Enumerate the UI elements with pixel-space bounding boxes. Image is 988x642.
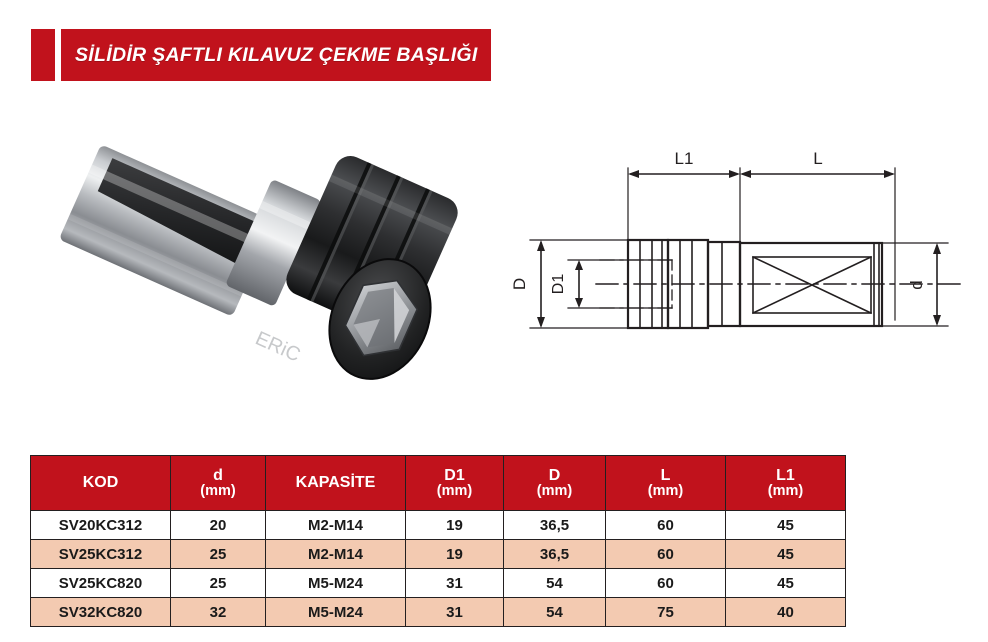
cell-l1: 40	[726, 598, 846, 627]
table-header-row: KOD d (mm) KAPASİTE D1 (mm) D (mm) L (mm…	[31, 456, 846, 511]
cell-d1: 19	[406, 511, 504, 540]
title-accent-block	[31, 29, 55, 81]
page-title-banner: SİLİDİR ŞAFTLI KILAVUZ ÇEKME BAŞLIĞI	[31, 29, 491, 81]
cell-l1: 45	[726, 540, 846, 569]
technical-drawing: L1 L D D1 d	[500, 130, 970, 380]
column-header-d: d (mm)	[171, 456, 266, 511]
dim-label-D1: D1	[550, 274, 567, 295]
table-row[interactable]: SV25KC820 25 M5-M24 31 54 60 45	[31, 569, 846, 598]
cell-l: 75	[606, 598, 726, 627]
product-photo: ERiC	[48, 105, 458, 400]
column-header-kapasite-label: KAPASİTE	[266, 474, 405, 491]
cell-d1: 19	[406, 540, 504, 569]
column-header-l1: L1 (mm)	[726, 456, 846, 511]
column-header-l-label: L	[606, 467, 725, 484]
photo-watermark: ERiC	[252, 327, 304, 366]
dim-label-D: D	[510, 278, 529, 290]
dim-label-L1: L1	[675, 149, 694, 168]
cell-l: 60	[606, 511, 726, 540]
cell-kod: SV32KC820	[31, 598, 171, 627]
dim-label-d: d	[907, 280, 926, 289]
cell-kapasite: M5-M24	[266, 598, 406, 627]
cell-d: 32	[171, 598, 266, 627]
cell-kapasite: M5-M24	[266, 569, 406, 598]
cell-kod: SV25KC312	[31, 540, 171, 569]
cell-dd: 36,5	[504, 511, 606, 540]
column-header-l-unit: (mm)	[606, 484, 725, 500]
column-header-kod-label: KOD	[31, 474, 170, 491]
column-header-d-label: d	[171, 467, 265, 484]
column-header-d1: D1 (mm)	[406, 456, 504, 511]
product-photo-svg: ERiC	[48, 105, 458, 400]
cell-l: 60	[606, 569, 726, 598]
cell-kapasite: M2-M14	[266, 540, 406, 569]
page-title: SİLİDİR ŞAFTLI KILAVUZ ÇEKME BAŞLIĞI	[61, 44, 478, 67]
column-header-d-unit: (mm)	[171, 484, 265, 500]
column-header-l1-label: L1	[726, 467, 845, 484]
column-header-d1-label: D1	[406, 467, 503, 484]
cell-d: 25	[171, 569, 266, 598]
cell-kod: SV25KC820	[31, 569, 171, 598]
column-header-kapasite: KAPASİTE	[266, 456, 406, 511]
cell-d1: 31	[406, 598, 504, 627]
column-header-d1-unit: (mm)	[406, 484, 503, 500]
column-header-dd-label: D	[504, 467, 605, 484]
column-header-dd-unit: (mm)	[504, 484, 605, 500]
column-header-l1-unit: (mm)	[726, 484, 845, 500]
cell-kod: SV20KC312	[31, 511, 171, 540]
column-header-dd: D (mm)	[504, 456, 606, 511]
cell-dd: 54	[504, 598, 606, 627]
cell-dd: 36,5	[504, 540, 606, 569]
cell-l1: 45	[726, 569, 846, 598]
cell-d: 20	[171, 511, 266, 540]
table-row[interactable]: SV32KC820 32 M5-M24 31 54 75 40	[31, 598, 846, 627]
specifications-table: KOD d (mm) KAPASİTE D1 (mm) D (mm) L (mm…	[30, 455, 846, 627]
column-header-l: L (mm)	[606, 456, 726, 511]
cell-d: 25	[171, 540, 266, 569]
technical-drawing-svg: L1 L D D1 d	[500, 130, 970, 380]
table-row[interactable]: SV20KC312 20 M2-M14 19 36,5 60 45	[31, 511, 846, 540]
cell-dd: 54	[504, 569, 606, 598]
table-body: SV20KC312 20 M2-M14 19 36,5 60 45 SV25KC…	[31, 511, 846, 627]
cell-l1: 45	[726, 511, 846, 540]
cell-l: 60	[606, 540, 726, 569]
column-header-kod: KOD	[31, 456, 171, 511]
title-bar: SİLİDİR ŞAFTLI KILAVUZ ÇEKME BAŞLIĞI	[61, 29, 491, 81]
table-row[interactable]: SV25KC312 25 M2-M14 19 36,5 60 45	[31, 540, 846, 569]
cell-kapasite: M2-M14	[266, 511, 406, 540]
cell-d1: 31	[406, 569, 504, 598]
dim-label-L: L	[813, 149, 822, 168]
table-header: KOD d (mm) KAPASİTE D1 (mm) D (mm) L (mm…	[31, 456, 846, 511]
